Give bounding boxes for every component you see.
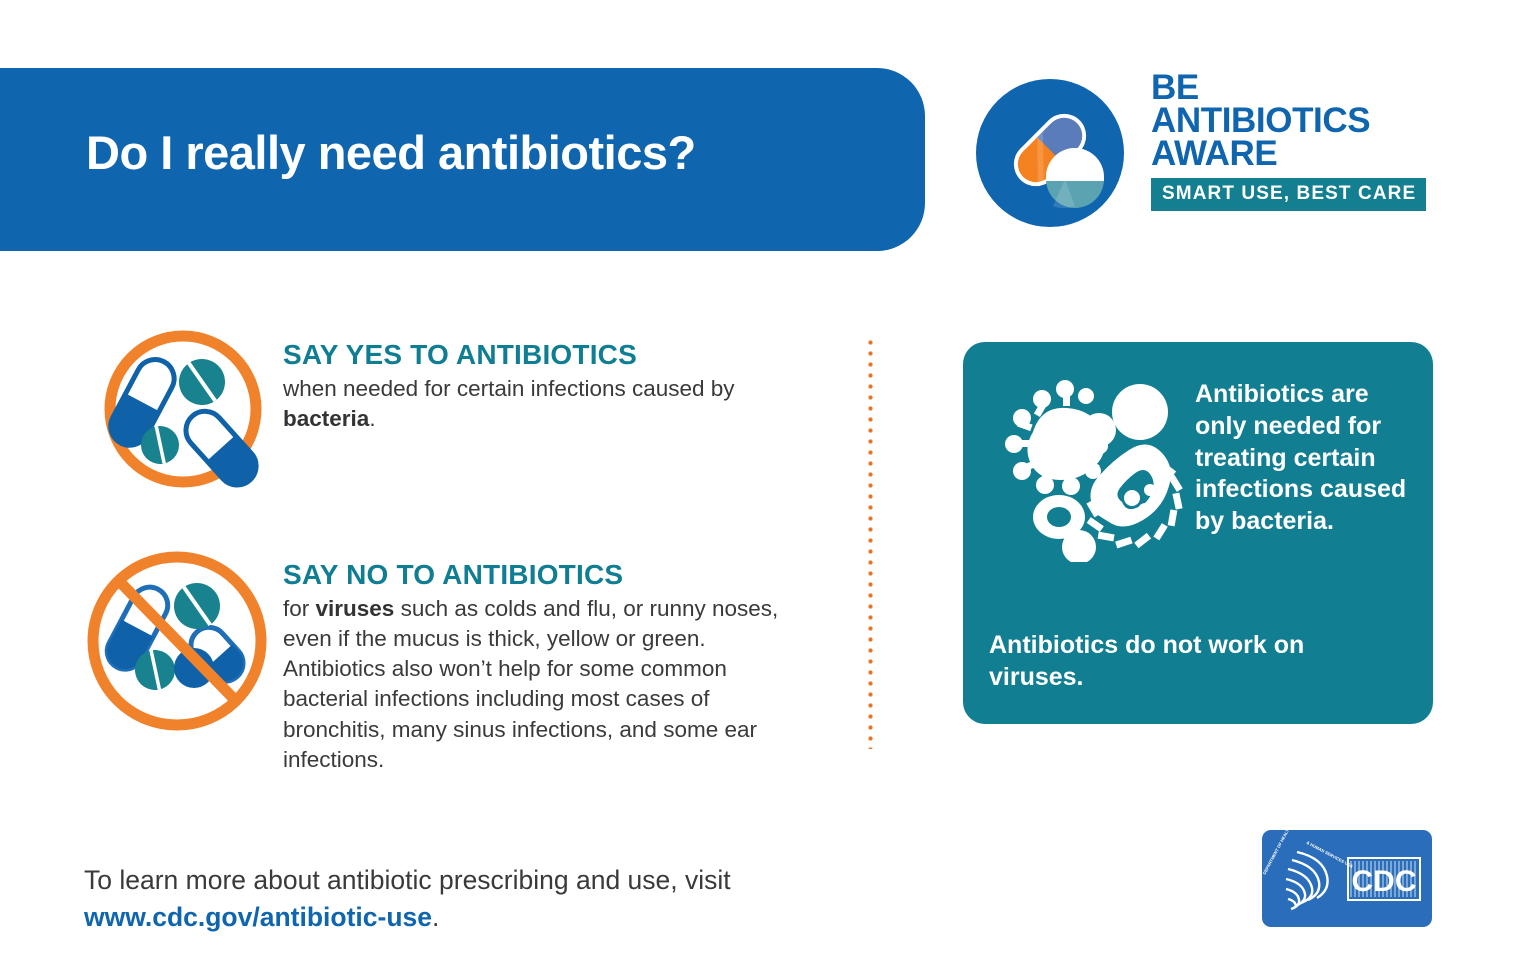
cdc-hhs-logo: DEPARTMENT OF HEALTH & HUMAN SERVICES US… xyxy=(1262,830,1432,927)
callout-panel: Antibiotics are only needed for treating… xyxy=(963,342,1433,724)
bacteria-germs-icon xyxy=(985,372,1190,562)
footer-lead-text: To learn more about antibiotic prescribi… xyxy=(84,865,731,895)
say-no-text: SAY NO TO ANTIBIOTICS for viruses such a… xyxy=(283,559,803,775)
logo-tagline-band: SMART USE, BEST CARE xyxy=(1151,178,1426,211)
callout-primary-text: Antibiotics are only needed for treating… xyxy=(1195,379,1417,538)
page-title: Do I really need antibiotics? xyxy=(86,127,886,179)
say-yes-heading: SAY YES TO ANTIBIOTICS xyxy=(283,339,803,371)
say-no-body: for viruses such as colds and flu, or ru… xyxy=(283,594,803,775)
say-no-body-emphasis: viruses xyxy=(316,596,395,621)
pills-circle-icon xyxy=(98,325,268,497)
cdc-logo-label: CDC xyxy=(1352,865,1417,898)
be-antibiotics-aware-logo: BE ANTIBIOTICS AWARE SMART USE, BEST CAR… xyxy=(975,78,1445,243)
say-yes-text: SAY YES TO ANTIBIOTICS when needed for c… xyxy=(283,339,803,434)
callout-secondary-text: Antibiotics do not work on viruses. xyxy=(989,630,1403,694)
footer-text: To learn more about antibiotic prescribi… xyxy=(84,862,904,935)
say-no-body-prefix: for xyxy=(283,596,316,621)
say-yes-body-suffix: . xyxy=(369,406,375,431)
logo-line-aware: AWARE xyxy=(1151,138,1451,171)
cdc-hhs-logo-graphic: DEPARTMENT OF HEALTH & HUMAN SERVICES US… xyxy=(1262,830,1432,927)
pills-prohibited-icon xyxy=(82,548,278,744)
say-no-body-suffix: such as colds and flu, or runny noses, e… xyxy=(283,596,778,772)
logo-line-antibiotics: ANTIBIOTICS xyxy=(1151,105,1451,138)
say-yes-block: SAY YES TO ANTIBIOTICS when needed for c… xyxy=(98,325,798,500)
capsule-tablet-logo-icon xyxy=(975,78,1125,228)
logo-line-be: BE xyxy=(1151,72,1451,105)
vertical-dotted-divider xyxy=(868,337,873,749)
cdc-antibiotic-use-link[interactable]: www.cdc.gov/antibiotic-use xyxy=(84,902,432,932)
say-yes-body-prefix: when needed for certain infections cause… xyxy=(283,376,735,401)
say-no-heading: SAY NO TO ANTIBIOTICS xyxy=(283,559,803,591)
say-yes-body-emphasis: bacteria xyxy=(283,406,369,431)
say-no-block: SAY NO TO ANTIBIOTICS for viruses such a… xyxy=(82,548,802,813)
say-yes-body: when needed for certain infections cause… xyxy=(283,374,803,434)
svg-text:DEPARTMENT OF HEALTH: DEPARTMENT OF HEALTH xyxy=(1262,830,1291,875)
footer-trailing-text: . xyxy=(432,902,439,932)
logo-tagline: SMART USE, BEST CARE xyxy=(1162,183,1416,204)
logo-wordmark: BE ANTIBIOTICS AWARE SMART USE, BEST CAR… xyxy=(1151,72,1451,211)
svg-text:& HUMAN SERVICES USA: & HUMAN SERVICES USA xyxy=(1306,840,1354,869)
